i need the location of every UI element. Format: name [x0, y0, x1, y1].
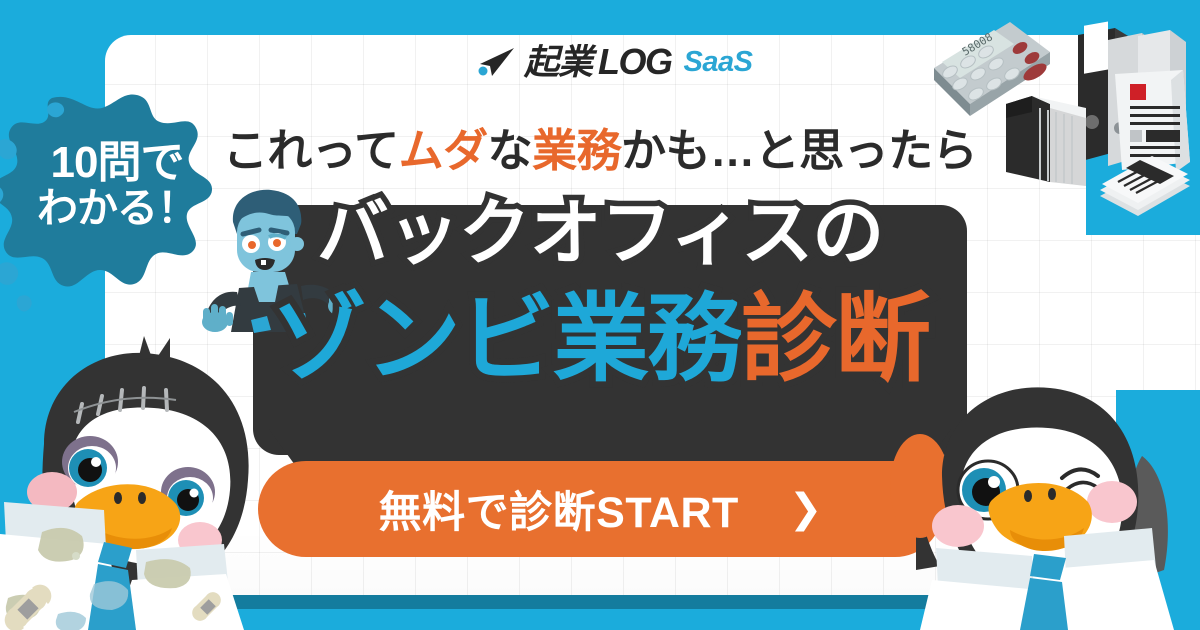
headline-highlight-gyomu: 業務 — [532, 125, 621, 176]
logo-log-text: LOG — [598, 44, 672, 80]
cta-label: 無料で診断START — [379, 478, 739, 540]
headline-part1: これって — [223, 125, 399, 176]
title-zombie-gyomu: ゾンビ業務 — [271, 286, 741, 393]
headline-highlight-muda: ムダ — [399, 125, 488, 176]
chevron-right-icon: ❯ — [789, 489, 823, 529]
happy-penguin-illustration — [916, 390, 1200, 630]
logo-jp-text: 起業 — [524, 45, 592, 80]
title-shindan: 診断 — [741, 286, 929, 393]
hero-banner: 58008 — [0, 0, 1200, 630]
paper-plane-icon — [478, 46, 516, 78]
headline-part2: な — [488, 125, 533, 176]
title-line-1: バックオフィスの — [0, 198, 1200, 270]
zombie-penguin-illustration — [0, 352, 286, 630]
cta-start-button[interactable]: 無料で診断START ❯ — [258, 461, 943, 557]
brand-logo[interactable]: 起業 LOG SaaS — [478, 44, 752, 80]
headline-part3: かも…と思ったら — [621, 125, 977, 176]
logo-saas-text: SaaS — [684, 48, 753, 77]
badge-line1: 10問で — [22, 140, 212, 187]
